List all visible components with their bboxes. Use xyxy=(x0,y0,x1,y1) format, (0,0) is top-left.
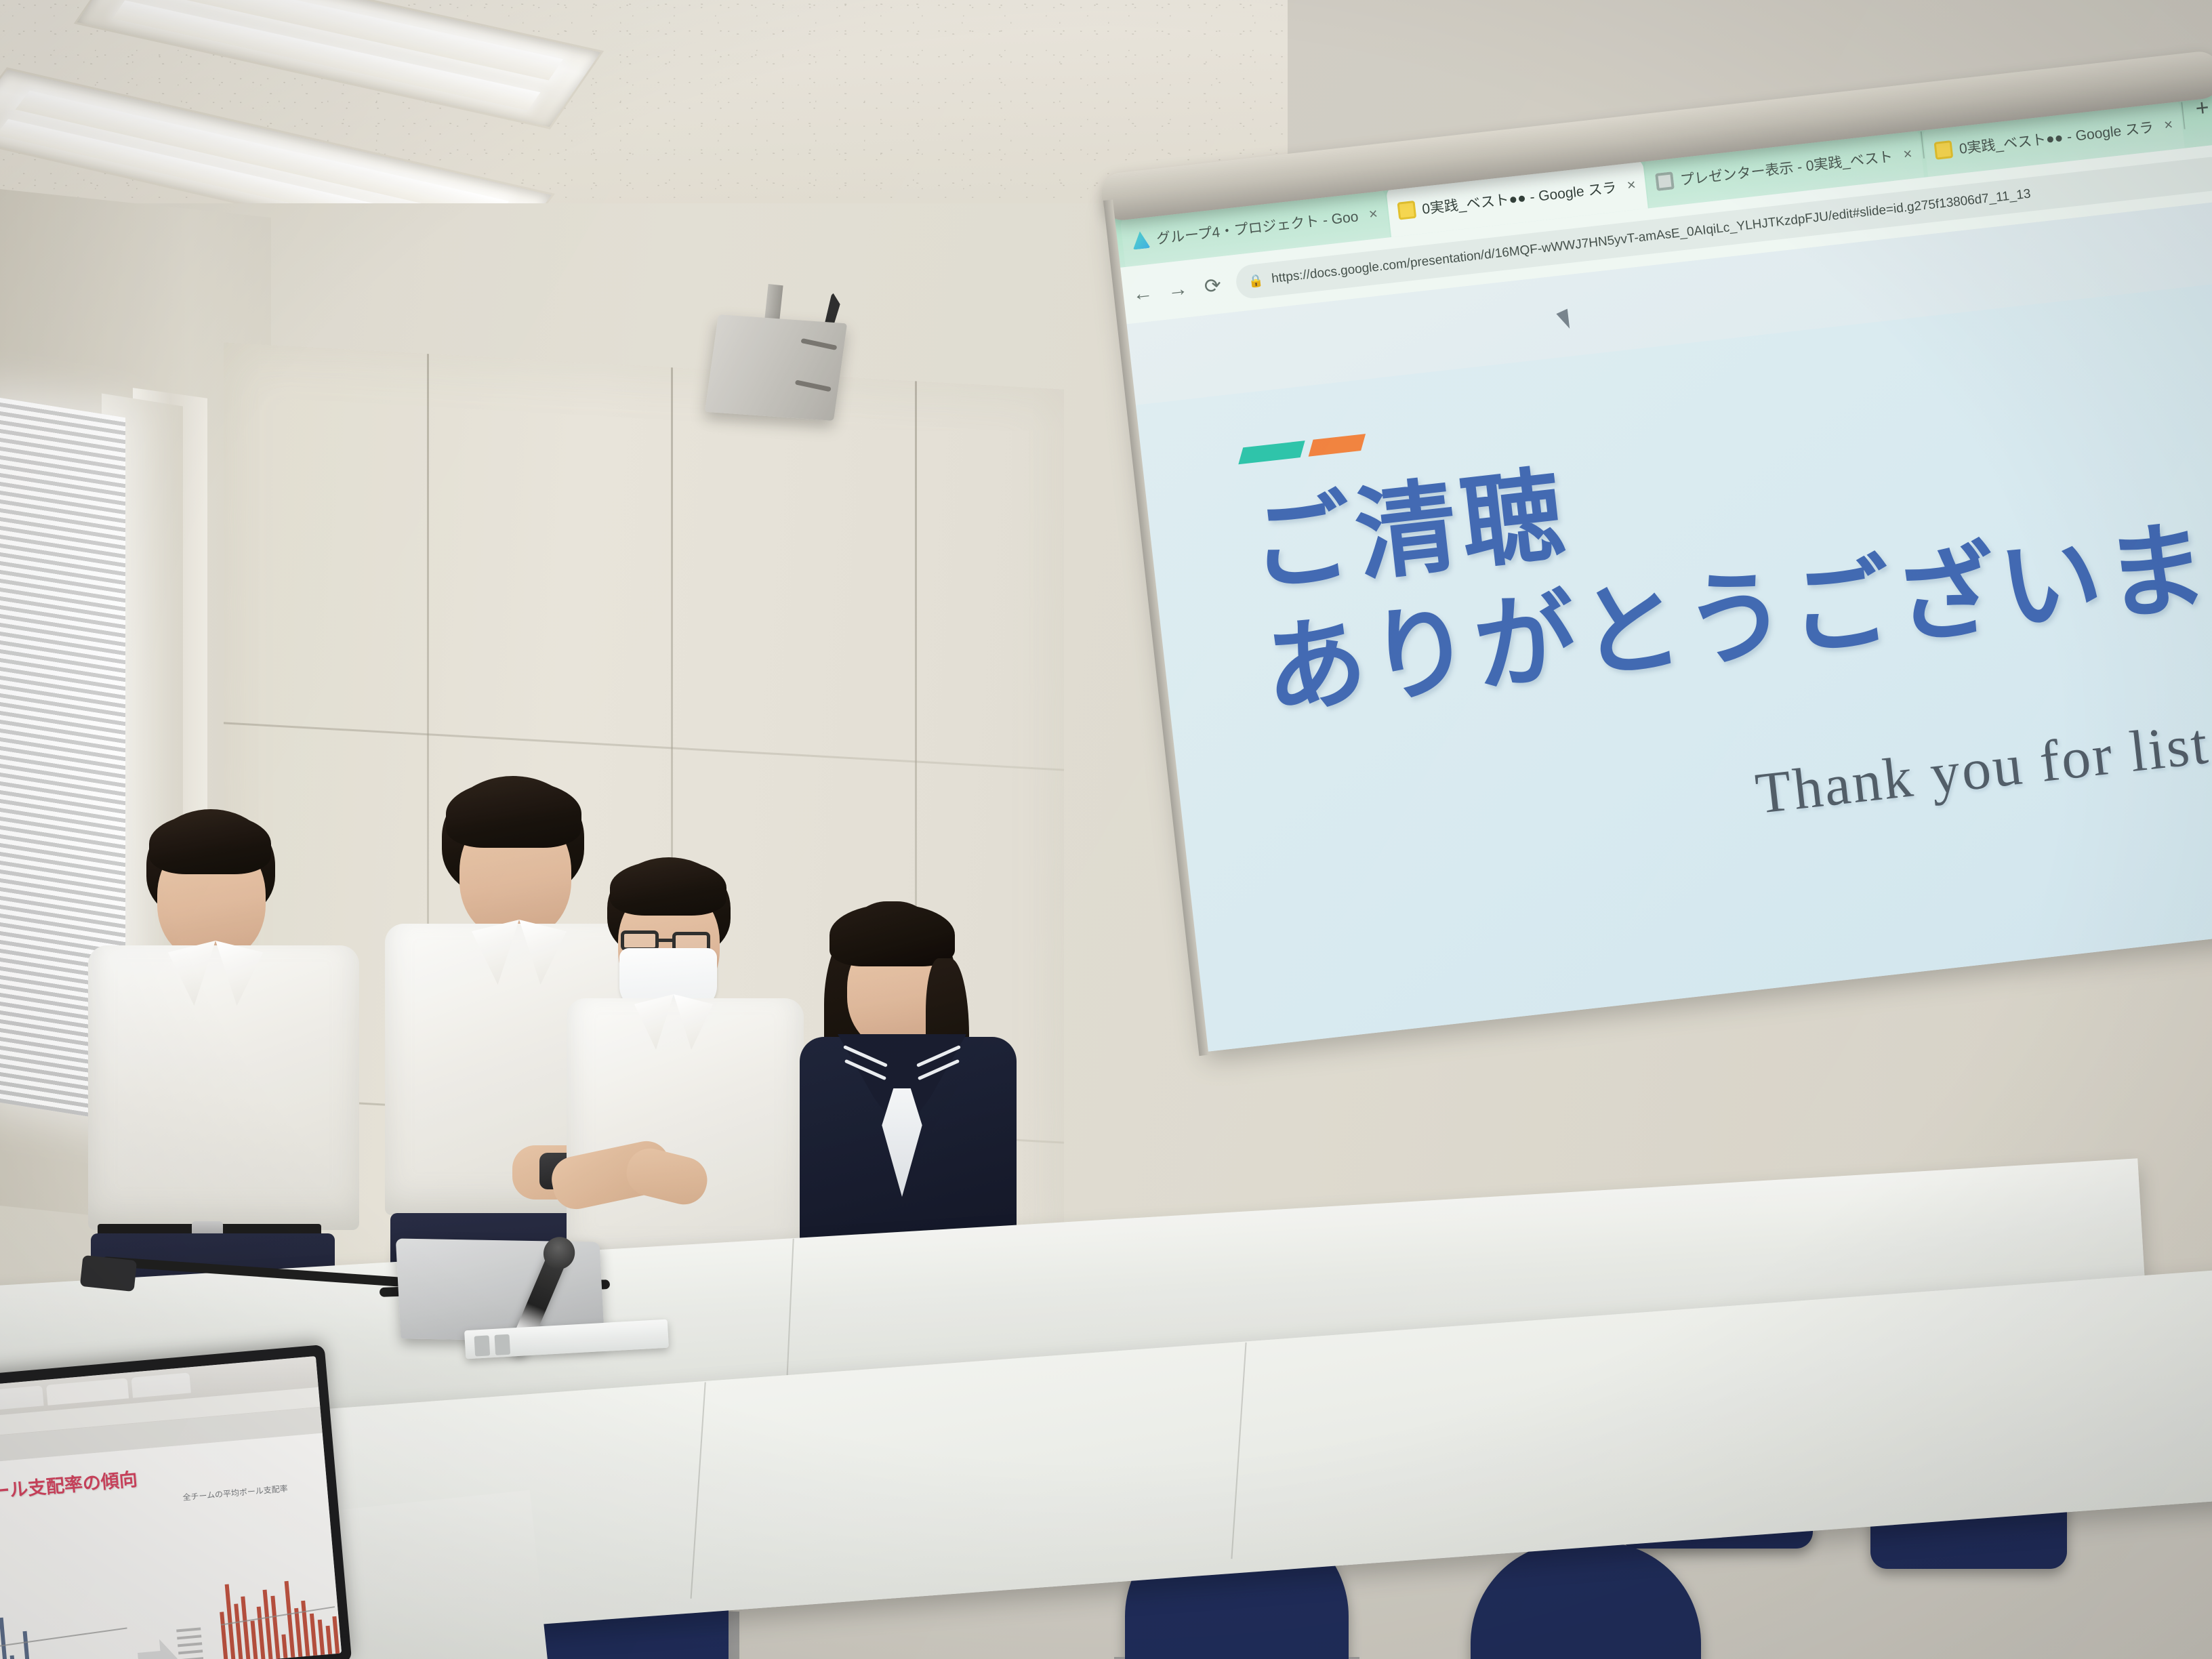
panel-seam xyxy=(224,722,1064,771)
ceiling-speaker-icon xyxy=(705,314,847,421)
forward-icon[interactable]: → xyxy=(1165,277,1191,303)
shirt xyxy=(567,998,804,1269)
back-icon[interactable]: ← xyxy=(1130,281,1155,307)
classroom-photo: グループ4・プロジェクト - Goo × 0実践_ベスト●● - Google … xyxy=(0,0,2212,1659)
shirt xyxy=(88,945,359,1230)
accent-bar-teal xyxy=(1238,441,1305,464)
slides-icon xyxy=(1397,201,1416,220)
accent-bar-orange xyxy=(1309,434,1366,457)
table-seam xyxy=(691,1382,706,1598)
hair-fringe xyxy=(446,780,581,848)
bar xyxy=(332,1616,341,1659)
table-seam xyxy=(1231,1343,1246,1559)
cable-connector xyxy=(80,1255,137,1292)
close-icon[interactable]: × xyxy=(2163,116,2174,134)
close-icon[interactable]: × xyxy=(1902,145,1913,163)
mouse-cursor-icon xyxy=(1556,309,1575,331)
device-port xyxy=(474,1336,491,1357)
slide-subtitle: Thank you for list xyxy=(1752,699,2212,827)
bar xyxy=(241,1597,251,1659)
lock-icon: 🔒 xyxy=(1248,273,1265,289)
slides-icon xyxy=(1934,140,1954,160)
table-seam xyxy=(785,1239,794,1395)
projection-screen: グループ4・プロジェクト - Goo × 0実践_ベスト●● - Google … xyxy=(1110,78,2212,1052)
foreground-laptop[interactable]: パスとボール支配率の傾向 ートキック合計数 全チームの平均ボール支配率 xyxy=(0,1345,352,1659)
device-port xyxy=(495,1334,511,1355)
browser-tab-active[interactable] xyxy=(46,1378,129,1405)
laptop-slide: パスとボール支配率の傾向 ートキック合計数 全チームの平均ボール支配率 xyxy=(0,1433,342,1659)
bar xyxy=(10,1655,18,1659)
browser-tab[interactable] xyxy=(131,1372,191,1397)
bar xyxy=(23,1631,33,1659)
bar xyxy=(281,1634,289,1659)
reload-icon[interactable]: ⟳ xyxy=(1200,273,1226,300)
hair-fringe xyxy=(149,813,271,874)
hair-fringe xyxy=(829,904,955,966)
close-icon[interactable]: × xyxy=(1368,205,1379,223)
presenter-icon xyxy=(1655,171,1675,191)
presentation-slide: ご清聴 ありがとうございました Thank you for list xyxy=(1132,280,2212,1052)
bar xyxy=(270,1596,281,1659)
bar xyxy=(0,1618,10,1659)
y-axis-ticks xyxy=(176,1627,204,1659)
arrow-icon xyxy=(136,1638,179,1659)
hair-fringe xyxy=(610,860,726,916)
bar xyxy=(326,1626,334,1659)
close-icon[interactable]: × xyxy=(1626,176,1637,194)
slides-canvas: ご清聴 ありがとうございました Thank you for list xyxy=(1124,199,2212,1052)
browser-tab[interactable] xyxy=(0,1385,44,1410)
laptop-screen: パスとボール支配率の傾向 ートキック合計数 全チームの平均ボール支配率 xyxy=(0,1356,342,1659)
chair[interactable] xyxy=(1471,1542,1701,1659)
laptop-bar-chart-left xyxy=(0,1595,33,1659)
bar xyxy=(318,1620,326,1659)
glasses-bridge xyxy=(659,939,672,942)
drive-icon xyxy=(1131,230,1151,250)
bar xyxy=(301,1600,311,1659)
